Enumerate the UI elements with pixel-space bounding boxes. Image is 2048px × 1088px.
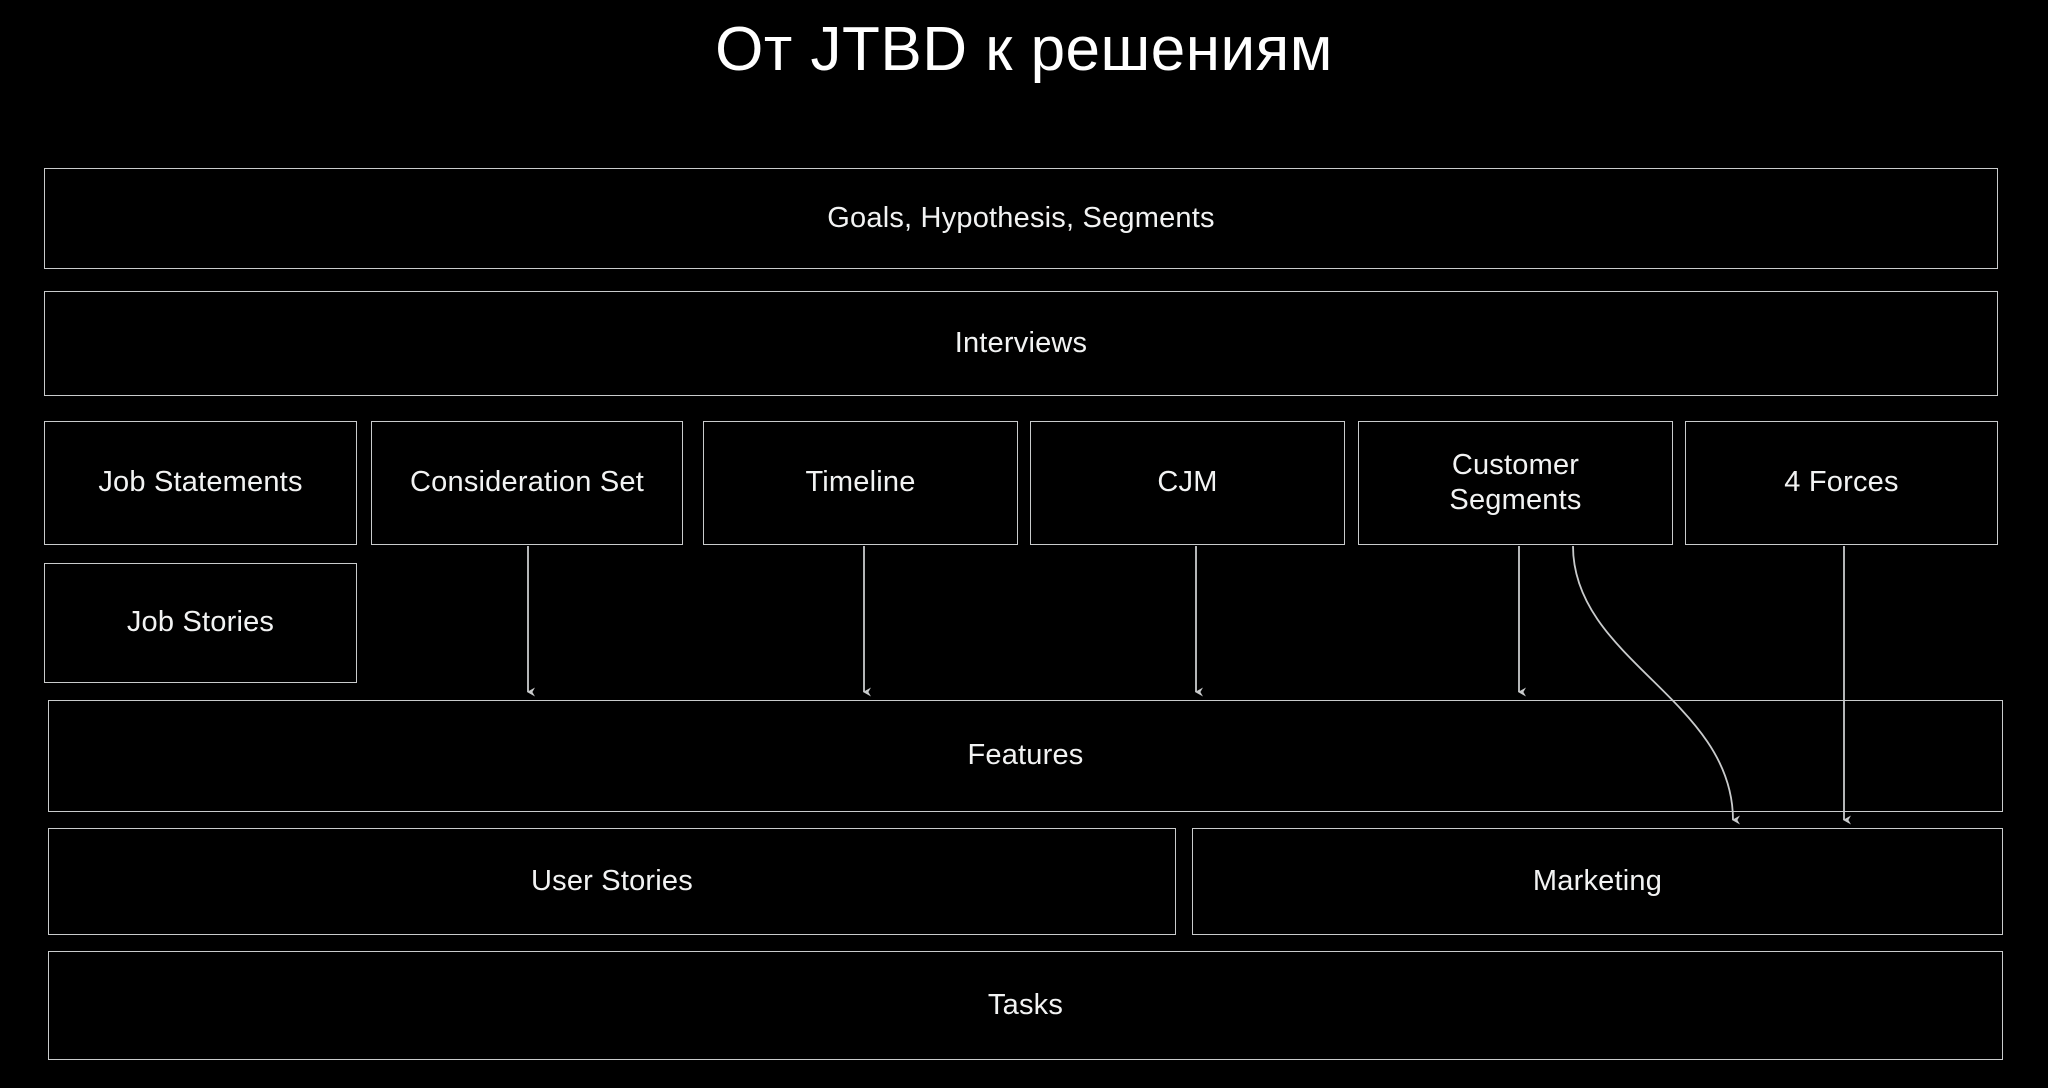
node-label-job-stories: Job Stories <box>117 605 284 640</box>
node-interviews[interactable]: Interviews <box>44 291 1998 396</box>
node-goals-hypothesis-segments[interactable]: Goals, Hypothesis, Segments <box>44 168 1998 269</box>
node-label-customer-segments-line1: Customer <box>1439 448 1591 483</box>
node-label-tasks: Tasks <box>978 988 1073 1023</box>
node-cjm[interactable]: CJM <box>1030 421 1345 545</box>
node-job-stories[interactable]: Job Stories <box>44 563 357 683</box>
node-tasks[interactable]: Tasks <box>48 951 2003 1060</box>
node-label-consideration-set: Consideration Set <box>400 465 654 500</box>
node-label-marketing: Marketing <box>1523 864 1672 899</box>
node-timeline[interactable]: Timeline <box>703 421 1018 545</box>
node-marketing[interactable]: Marketing <box>1192 828 2003 935</box>
node-label-goals: Goals, Hypothesis, Segments <box>817 201 1224 236</box>
node-user-stories[interactable]: User Stories <box>48 828 1176 935</box>
node-job-statements[interactable]: Job Statements <box>44 421 357 545</box>
node-customer-segments[interactable]: Customer Segments <box>1358 421 1673 545</box>
slide-canvas: От JTBD к решениям Goals, Hypothesis, Se… <box>0 0 2048 1088</box>
node-4-forces[interactable]: 4 Forces <box>1685 421 1998 545</box>
node-label-job-statements: Job Statements <box>88 465 312 500</box>
node-consideration-set[interactable]: Consideration Set <box>371 421 683 545</box>
node-label-customer-segments-line2: Segments <box>1439 483 1591 518</box>
node-label-features: Features <box>957 738 1093 773</box>
node-features[interactable]: Features <box>48 700 2003 812</box>
node-label-interviews: Interviews <box>945 326 1098 361</box>
node-label-customer-segments: Customer Segments <box>1429 448 1601 519</box>
node-label-user-stories: User Stories <box>521 864 703 899</box>
node-label-cjm: CJM <box>1147 465 1227 500</box>
node-label-timeline: Timeline <box>795 465 925 500</box>
page-title: От JTBD к решениям <box>0 14 2048 85</box>
node-label-4-forces: 4 Forces <box>1774 465 1908 500</box>
